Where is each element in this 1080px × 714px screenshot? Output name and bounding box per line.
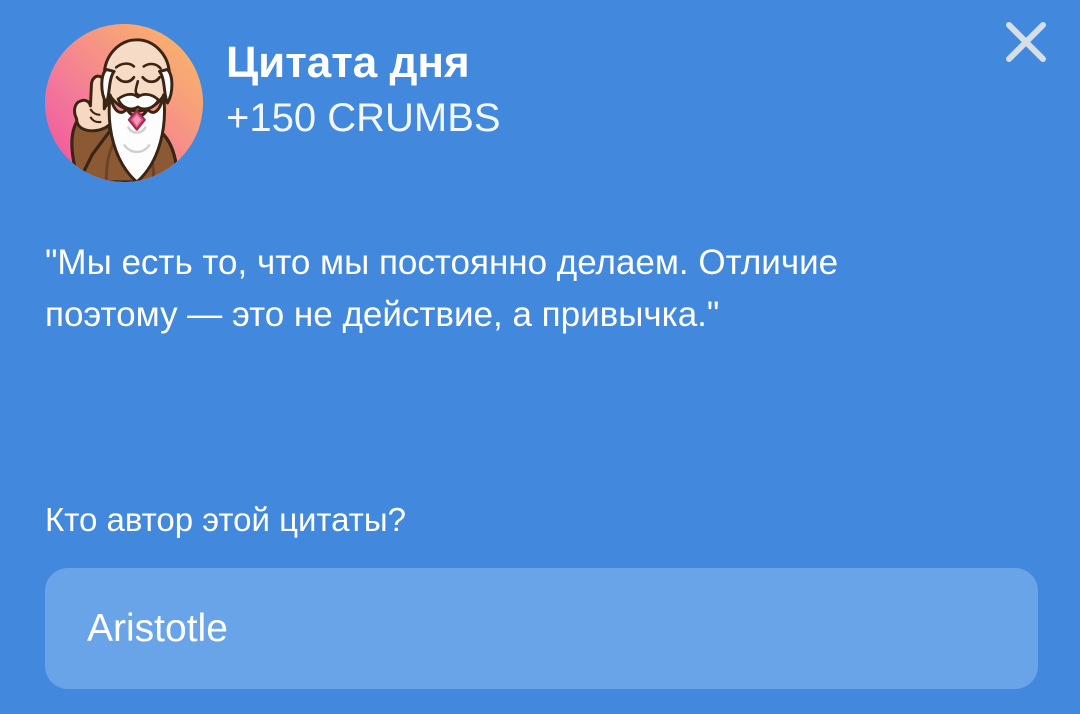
- question-label: Кто автор этой цитаты?: [45, 498, 406, 542]
- answer-input-value: Aristotle: [87, 609, 228, 648]
- close-button[interactable]: [998, 14, 1054, 70]
- quote-of-the-day-modal: Цитата дня +150 CRUMBS "Мы есть то, что …: [0, 0, 1080, 714]
- page-title: Цитата дня: [226, 40, 501, 86]
- close-icon: [1002, 18, 1050, 66]
- quote-text: "Мы есть то, что мы постоянно делаем. От…: [45, 237, 925, 341]
- header-text-block: Цитата дня +150 CRUMBS: [226, 24, 501, 139]
- modal-header: Цитата дня +150 CRUMBS: [45, 24, 501, 182]
- answer-input[interactable]: Aristotle: [45, 568, 1038, 689]
- reward-badge: +150 CRUMBS: [226, 97, 501, 139]
- sage-philosopher-avatar-icon: [45, 24, 203, 182]
